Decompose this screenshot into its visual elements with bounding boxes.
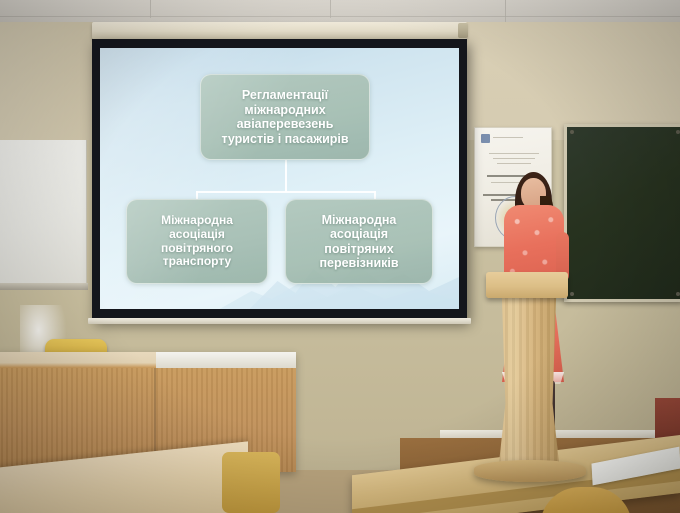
podium-wood-grain: [498, 292, 560, 472]
node-title-line-2: міжнародних: [244, 103, 325, 117]
node-title-line-1: Регламентації: [242, 88, 328, 102]
projection-screen: Регламентації міжнародних авіаперевезень…: [92, 39, 467, 320]
diagram-node-title: Регламентації міжнародних авіаперевезень…: [200, 74, 370, 160]
podium-lectern-top: [486, 272, 568, 298]
node-right-line-1: Міжнародна: [322, 213, 397, 227]
node-right-line-2: асоціація: [330, 227, 388, 241]
chalkboard: [564, 124, 680, 302]
poster-seal-icon: [481, 134, 490, 143]
diagram-node-left: Міжнародна асоціація повітряного транспо…: [126, 199, 268, 284]
node-title-line-4: туристів і пасажирів: [221, 132, 348, 146]
connector-vertical-main: [285, 160, 287, 192]
screen-bottom-bar: [88, 318, 471, 324]
node-left-line-4: транспорту: [163, 254, 231, 268]
chair-foreground: [222, 452, 280, 513]
presentation-photo-scene: Регламентації міжнародних авіаперевезень…: [0, 0, 680, 513]
whiteboard: [0, 140, 87, 285]
whiteboard-tray: [0, 283, 88, 290]
projection-screen-roller-case: [92, 22, 467, 39]
node-left-line-2: асоціація: [169, 227, 225, 241]
podium-base: [474, 460, 586, 482]
left-wall-panel: [0, 22, 96, 146]
desk-white-surface: [156, 352, 296, 368]
diagram-node-right: Міжнародна асоціація повітряних перевізн…: [285, 199, 433, 284]
node-title-line-3: авіаперевезень: [237, 117, 334, 131]
podium-body: [498, 292, 560, 472]
roller-end-cap: [458, 23, 468, 38]
node-right-line-4: перевізників: [319, 256, 398, 270]
connector-horizontal: [196, 191, 376, 193]
node-right-line-3: повітряних: [324, 242, 393, 256]
node-left-line-1: Міжнародна: [161, 213, 233, 227]
projected-slide: Регламентації міжнародних авіаперевезень…: [100, 48, 459, 309]
node-left-line-3: повітряного: [161, 241, 233, 255]
